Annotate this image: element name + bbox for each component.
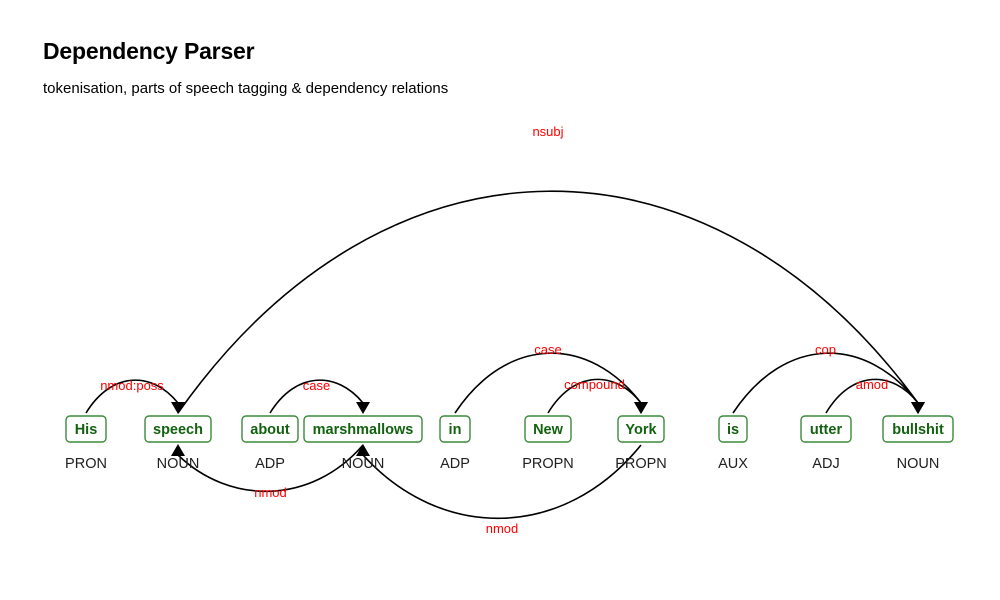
arc-curve <box>733 353 918 413</box>
relation-label: cop <box>815 342 836 357</box>
token-text: is <box>727 422 739 438</box>
token-his[interactable]: HisPRON <box>65 416 107 472</box>
token-text: bullshit <box>892 422 944 438</box>
token-text: New <box>533 422 564 438</box>
dependency-parser-page: Dependency Parser tokenisation, parts of… <box>0 0 1000 600</box>
pos-tag: NOUN <box>897 456 940 472</box>
arc-arrowhead <box>171 444 185 456</box>
arc-curve <box>178 191 918 413</box>
pos-tag: ADP <box>255 456 285 472</box>
dependency-arc-amod: amod <box>826 377 925 414</box>
dependency-arc-cop: cop <box>733 342 925 414</box>
arc-curve <box>363 445 641 518</box>
arc-arrowhead <box>911 402 925 414</box>
token-text: utter <box>810 422 843 438</box>
dependency-arc-nmod: nmod <box>171 444 363 500</box>
pos-tag: ADJ <box>812 456 839 472</box>
relation-label: nmod:poss <box>100 378 164 393</box>
relation-label: compound <box>564 377 625 392</box>
token-about[interactable]: aboutADP <box>242 416 298 472</box>
dependency-arc-compound: compound <box>548 377 648 414</box>
token-text: speech <box>153 422 203 438</box>
arc-arrowhead <box>634 402 648 414</box>
relation-label: nmod <box>254 485 287 500</box>
pos-tag: PROPN <box>615 456 667 472</box>
relation-label: case <box>534 342 561 357</box>
pos-tag: PROPN <box>522 456 574 472</box>
dependency-arc-nmod: nmod <box>356 444 641 536</box>
pos-tag: PRON <box>65 456 107 472</box>
dependency-parse-diagram: nmod:posscasensubjcasecompoundcopamodnmo… <box>0 0 1000 600</box>
dependency-arc-case: case <box>270 378 370 414</box>
pos-tag: AUX <box>718 456 748 472</box>
token-new[interactable]: NewPROPN <box>522 416 574 472</box>
token-text: York <box>625 422 657 438</box>
pos-tag: ADP <box>440 456 470 472</box>
token-text: about <box>250 422 290 438</box>
token-york[interactable]: YorkPROPN <box>615 416 667 472</box>
pos-tag: NOUN <box>342 456 385 472</box>
token-in[interactable]: inADP <box>440 416 470 472</box>
token-layer: HisPRONspeechNOUNaboutADPmarshmallowsNOU… <box>65 416 953 472</box>
token-text: His <box>75 422 98 438</box>
dependency-arc-layer: nmod:posscasensubjcasecompoundcopamodnmo… <box>86 124 925 536</box>
relation-label: case <box>303 378 330 393</box>
relation-label: nsubj <box>532 124 563 139</box>
token-text: in <box>449 422 462 438</box>
token-text: marshmallows <box>313 422 414 438</box>
relation-label: nmod <box>486 521 519 536</box>
dependency-arc-nmod-poss: nmod:poss <box>86 378 185 414</box>
relation-label: amod <box>856 377 889 392</box>
token-utter[interactable]: utterADJ <box>801 416 851 472</box>
arc-arrowhead <box>356 402 370 414</box>
pos-tag: NOUN <box>157 456 200 472</box>
token-bullshit[interactable]: bullshitNOUN <box>883 416 953 472</box>
token-is[interactable]: isAUX <box>718 416 748 472</box>
dependency-arc-nsubj: nsubj <box>178 124 925 414</box>
